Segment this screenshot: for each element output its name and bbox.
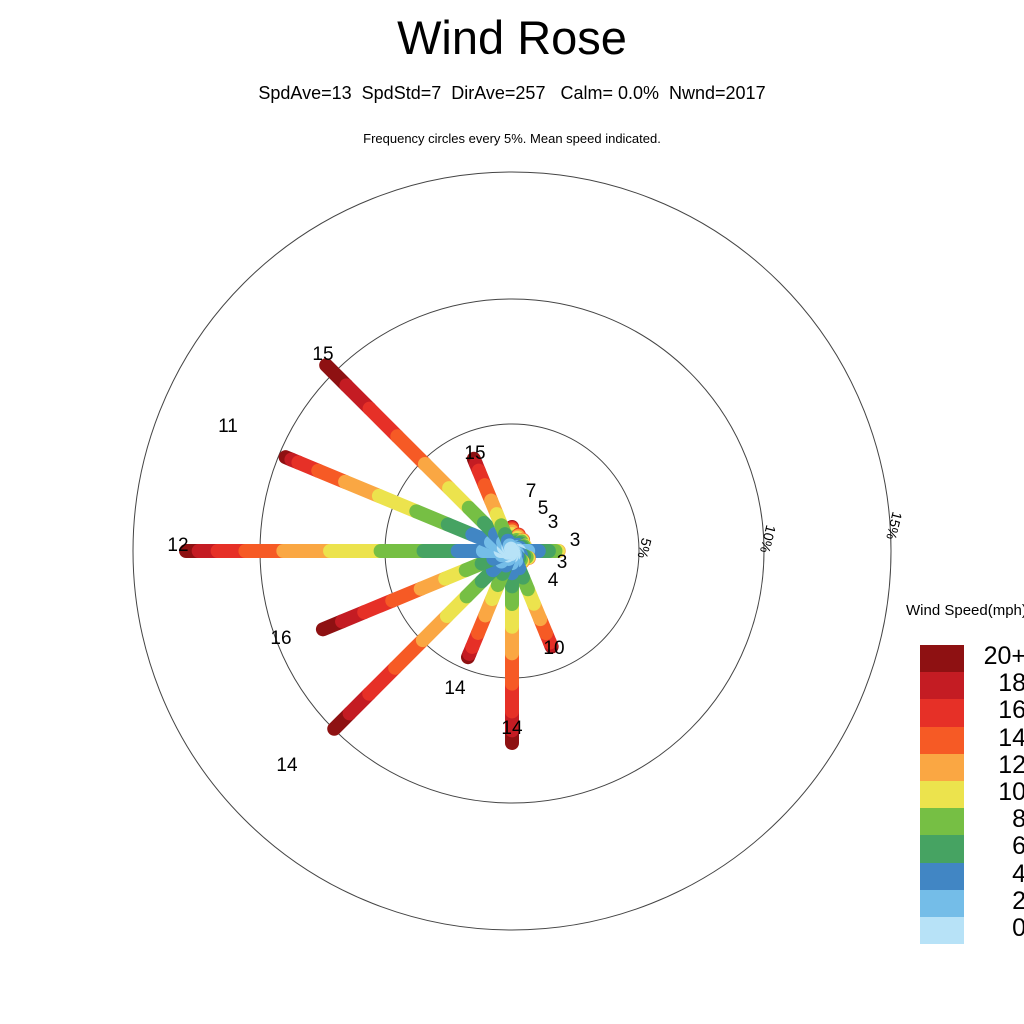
petal-mean-speed-label: 14 [276, 755, 298, 776]
legend-row: 18 [920, 672, 964, 699]
petal-mean-speed-label: 15 [312, 344, 333, 365]
legend-color-swatch [920, 808, 964, 835]
petal-mean-speed-label: 14 [501, 718, 523, 739]
legend-label: 10 [970, 778, 1024, 807]
petal-mean-speed-label: 11 [218, 416, 238, 437]
legend-label: 4 [970, 860, 1024, 889]
legend-row: 8 [920, 808, 964, 835]
petal-mean-speed-label: 16 [270, 628, 291, 649]
ring-percent-label: 5% [634, 537, 654, 561]
legend-color-swatch [920, 781, 964, 808]
legend-title: Wind Speed(mph) [906, 602, 1024, 619]
legend-color-swatch [920, 863, 964, 890]
legend-color-swatch [920, 754, 964, 781]
legend-color-swatch [920, 672, 964, 699]
petal-mean-speed-label: 3 [570, 530, 581, 551]
petal-mean-speed-label: 3 [557, 552, 568, 573]
legend-label: 16 [970, 696, 1024, 725]
petal-mean-speed-label: 15 [464, 443, 485, 464]
legend-row: 4 [920, 863, 964, 890]
legend-color-swatch [920, 917, 964, 944]
legend-label: 8 [970, 805, 1024, 834]
ring-percent-label: 15% [883, 510, 905, 541]
legend-color-swatch [920, 890, 964, 917]
legend-label: 0 [970, 914, 1024, 943]
legend-label: 18 [970, 669, 1024, 698]
legend-row: 0 [920, 917, 964, 944]
petal-mean-speed-label: 4 [548, 570, 559, 591]
legend-color-swatch [920, 699, 964, 726]
legend-label: 12 [970, 751, 1024, 780]
wind-rose-plot: 5%10%15%753334101414141612111515 [0, 0, 1024, 1024]
petal-mean-speed-label: 7 [526, 481, 537, 502]
wind-rose-page: Wind Rose SpdAve=13 SpdStd=7 DirAve=257 … [0, 0, 1024, 1024]
ring-percent-label: 10% [757, 524, 779, 555]
legend-row: 14 [920, 727, 964, 754]
petal-mean-speed-label: 5 [538, 498, 549, 519]
legend-row: 6 [920, 835, 964, 862]
ring-percent-label-group: 15% [883, 510, 905, 541]
legend-row: 10 [920, 781, 964, 808]
wind-petal-sw [334, 551, 512, 729]
petal-mean-speed-label: 3 [548, 512, 559, 533]
legend-color-swatch [920, 645, 964, 672]
legend-row: 20+ [920, 645, 964, 672]
legend-color-swatch [920, 727, 964, 754]
wind-speed-legend: 20+181614121086420 [920, 645, 964, 944]
petal-mean-speed-label: 12 [167, 535, 188, 556]
ring-percent-label-group: 10% [757, 524, 779, 555]
legend-label: 20+ [970, 642, 1024, 671]
legend-row: 12 [920, 754, 964, 781]
ring-percent-label-group: 5% [634, 537, 654, 561]
legend-label: 14 [970, 724, 1024, 753]
legend-color-swatch [920, 835, 964, 862]
legend-label: 6 [970, 832, 1024, 861]
petal-segment [511, 549, 512, 551]
legend-label: 2 [970, 887, 1024, 916]
petal-mean-speed-label: 14 [444, 678, 466, 699]
legend-row: 16 [920, 699, 964, 726]
petal-mean-speed-label: 10 [543, 638, 564, 659]
legend-row: 2 [920, 890, 964, 917]
